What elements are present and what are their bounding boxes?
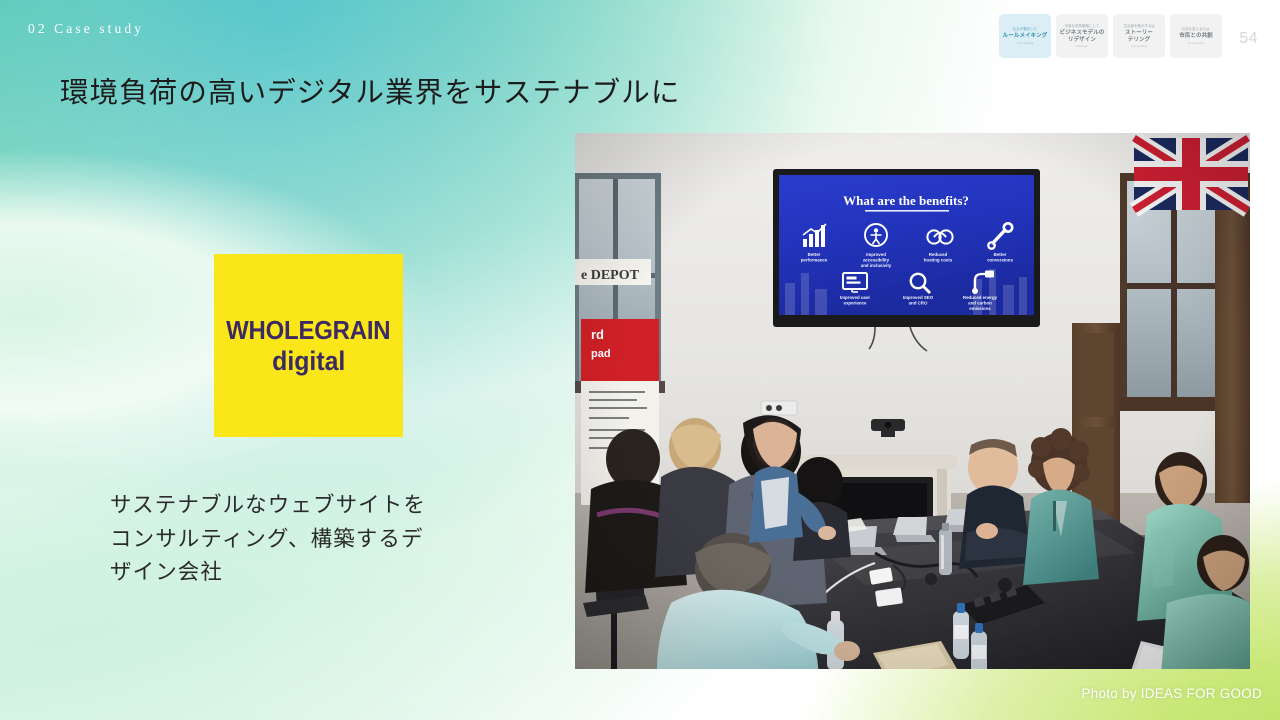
badge-main-text: ルールメイキング [1003,33,1048,40]
slide-root: 02 Case study 54 社会が要請した ルールメイキング rule m… [0,0,1280,720]
description-line-3: ザイン会社 [110,556,530,590]
badge-main-text: 市民との共創 [1179,33,1213,40]
page-title: 環境負荷の高いデジタル業界をサステナブルに [60,70,680,111]
badge-top-text: 社会を変えるのは [1182,27,1210,31]
framework-badge-co-creation[interactable]: 社会を変えるのは 市民との共創 co-creation [1170,14,1222,58]
framework-badge-rule-making[interactable]: 社会が要請した ルールメイキング rule making [999,14,1051,58]
description-line-2: コンサルティング、構築するデ [110,523,530,557]
badge-sub-text: rule making [1016,42,1033,46]
framework-badge-storytelling[interactable]: 生活者を動かすのは ストーリーテリング storytelling [1113,14,1165,58]
meeting-room-photo-illustration: What are the benefits? [575,133,1250,669]
page-number: 54 [1239,30,1258,48]
section-kicker: 02 Case study [28,21,144,37]
badge-top-text: 生活者を動かすのは [1123,24,1154,28]
badge-sub-text: redesign [1076,45,1089,49]
wholegrain-logo-card: WHOLEGRAIN digital [214,254,403,437]
badge-main-text: ストーリーテリング [1125,30,1153,44]
logo-text-secondary: digital [272,348,345,375]
badge-sub-text: co-creation [1188,42,1205,46]
photo-credit: Photo by IDEAS FOR GOOD [1081,686,1262,701]
logo-text-primary: WHOLEGRAIN [226,317,390,343]
badge-top-text: 次事な成長戦略として [1065,24,1100,28]
badge-top-text: 社会が要請した [1013,27,1037,31]
badge-main-text: ビジネスモデルのリデザイン [1060,30,1105,44]
framework-badge-row: 社会が要請した ルールメイキング rule making 次事な成長戦略として … [999,14,1222,58]
case-study-photo: What are the benefits? [575,133,1250,669]
framework-badge-redesign[interactable]: 次事な成長戦略として ビジネスモデルのリデザイン redesign [1056,14,1108,58]
badge-sub-text: storytelling [1131,45,1147,49]
company-description: サステナブルなウェブサイトを コンサルティング、構築するデ ザイン会社 [110,489,530,590]
description-line-1: サステナブルなウェブサイトを [110,489,530,523]
